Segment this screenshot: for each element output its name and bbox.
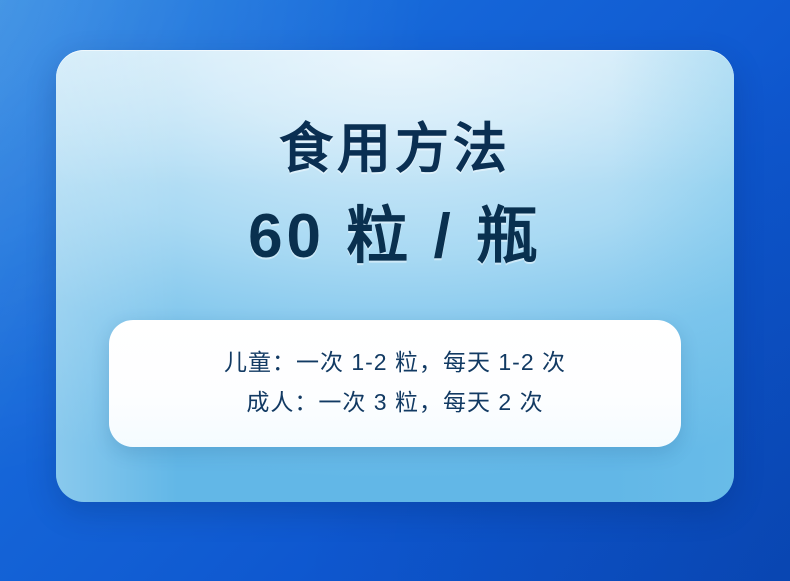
quantity-subtitle: 60 粒 / 瓶 <box>248 206 542 268</box>
dosage-panel: 儿童：一次 1-2 粒，每天 1-2 次 成人：一次 3 粒，每天 2 次 <box>109 320 681 447</box>
dosage-line-children: 儿童：一次 1-2 粒，每天 1-2 次 <box>109 342 681 382</box>
poster-background: 食用方法 60 粒 / 瓶 儿童：一次 1-2 粒，每天 1-2 次 成人：一次… <box>0 0 790 581</box>
dosage-line-adults: 成人：一次 3 粒，每天 2 次 <box>109 382 681 422</box>
page-title: 食用方法 <box>279 122 511 176</box>
card-content: 食用方法 60 粒 / 瓶 儿童：一次 1-2 粒，每天 1-2 次 成人：一次… <box>56 50 734 502</box>
product-info-card: 食用方法 60 粒 / 瓶 儿童：一次 1-2 粒，每天 1-2 次 成人：一次… <box>56 50 734 502</box>
